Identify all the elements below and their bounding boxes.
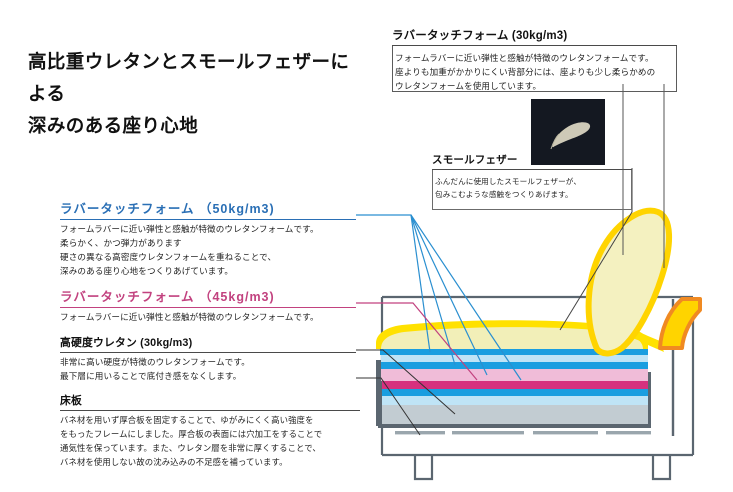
annotation-small-feather: スモールフェザー ふんだんに使用したスモールフェザーが、 包みこむような感触をつ… xyxy=(432,152,632,210)
annotation-body-line: ウレタンフォームを使用しています。 xyxy=(395,80,672,94)
annotation-high-hardness-urethane: 高硬度ウレタン (30kg/m3) 非常に高い硬度が特徴のウレタンフォームです。… xyxy=(60,334,356,384)
annotation-body-line: をもったフレームにしました。厚合板の表面には穴加工をすることで xyxy=(60,428,360,442)
annotation-body-box: フォームラバーに近い弾性と感触が特徴のウレタンフォームです。 座よりも加重がかか… xyxy=(392,46,677,92)
annotation-heading: スモールフェザー xyxy=(432,152,632,169)
layer-light-blue-lower xyxy=(382,396,648,405)
ventilation-holes xyxy=(395,431,651,434)
annotation-body-line: 包みこむような感触をつくりあげます。 xyxy=(435,188,628,201)
annotation-body: フォームラバーに近い弾性と感触が特徴のウレタンフォームです。 xyxy=(60,308,356,325)
annotation-floor-board: 床板 バネ材を用いず厚合板を固定することで、ゆがみにくく高い強度を をもったフレ… xyxy=(60,392,360,470)
annotation-rubber-touch-45: ラバータッチフォーム （45kg/m3) フォームラバーに近い弾性と感触が特徴の… xyxy=(60,286,356,325)
annotation-heading: ラバータッチフォーム （45kg/m3) xyxy=(60,286,356,307)
annotation-body: 非常に高い硬度が特徴のウレタンフォームです。 最下層に用いることで底付き感をなく… xyxy=(60,353,356,384)
annotation-heading: ラバータッチフォーム （50kg/m3) xyxy=(60,198,356,219)
annotation-heading: ラバータッチフォーム (30kg/m3) xyxy=(392,27,677,45)
layer-blue-lower xyxy=(382,389,648,396)
leg-right xyxy=(653,455,670,479)
feather-back-cushion xyxy=(589,211,669,354)
annotation-rubber-touch-50: ラバータッチフォーム （50kg/m3) フォームラバーに近い弾性と感触が特徴の… xyxy=(60,198,356,279)
annotation-body: フォームラバーに近い弾性と感触が特徴のウレタンフォームです。 座よりも加重がかか… xyxy=(395,49,672,94)
annotation-body-line: バネ材を用いず厚合板を固定することで、ゆがみにくく高い強度を xyxy=(60,414,360,428)
layer-blue-mid xyxy=(381,362,648,369)
annotation-heading: 床板 xyxy=(60,392,360,410)
leg-left xyxy=(415,455,432,479)
annotation-body-line: 座よりも加重がかかりにくい背部分には、座よりも少し柔らかめの xyxy=(395,66,672,80)
diagram-canvas: 高比重ウレタンとスモールフェザーによる 深みのある座り心地 xyxy=(0,0,733,492)
annotation-body-line: 深みのある座り心地をつくりあげています。 xyxy=(60,265,356,279)
annotation-rubber-touch-30: ラバータッチフォーム (30kg/m3) フォームラバーに近い弾性と感触が特徴の… xyxy=(392,27,677,92)
annotation-body: ふんだんに使用したスモールフェザーが、 包みこむような感触をつくりあげます。 xyxy=(435,172,628,201)
annotation-body-line: バネ材を使用しない故の沈み込みの不足感を補っています。 xyxy=(60,456,360,470)
layer-gray-hard-urethane xyxy=(382,405,648,424)
annotation-body-line: フォームラバーに近い弾性と感触が特徴のウレタンフォームです。 xyxy=(395,52,672,66)
annotation-body-line: フォームラバーに近い弾性と感触が特徴のウレタンフォームです。 xyxy=(60,223,356,237)
annotation-body-line: 最下層に用いることで底付き感をなくします。 xyxy=(60,370,356,384)
annotation-heading: 高硬度ウレタン (30kg/m3) xyxy=(60,334,356,352)
annotation-body: フォームラバーに近い弾性と感触が特徴のウレタンフォームです。 柔らかく、かつ弾力… xyxy=(60,220,356,279)
annotation-body-line: ふんだんに使用したスモールフェザーが、 xyxy=(435,175,628,188)
annotation-body-line: 通気性を保っています。また、ウレタン層を非常に厚くすることで、 xyxy=(60,442,360,456)
annotation-body-line: フォームラバーに近い弾性と感触が特徴のウレタンフォームです。 xyxy=(60,311,356,325)
annotation-body-line: 非常に高い硬度が特徴のウレタンフォームです。 xyxy=(60,356,356,370)
annotation-body-line: 柔らかく、かつ弾力があります xyxy=(60,237,356,251)
annotation-body-box: ふんだんに使用したスモールフェザーが、 包みこむような感触をつくりあげます。 xyxy=(432,170,632,210)
annotation-body-line: 硬さの異なる高密度ウレタンフォームを重ねることで、 xyxy=(60,251,356,265)
annotation-body: バネ材を用いず厚合板を固定することで、ゆがみにくく高い強度を をもったフレームに… xyxy=(60,411,360,470)
